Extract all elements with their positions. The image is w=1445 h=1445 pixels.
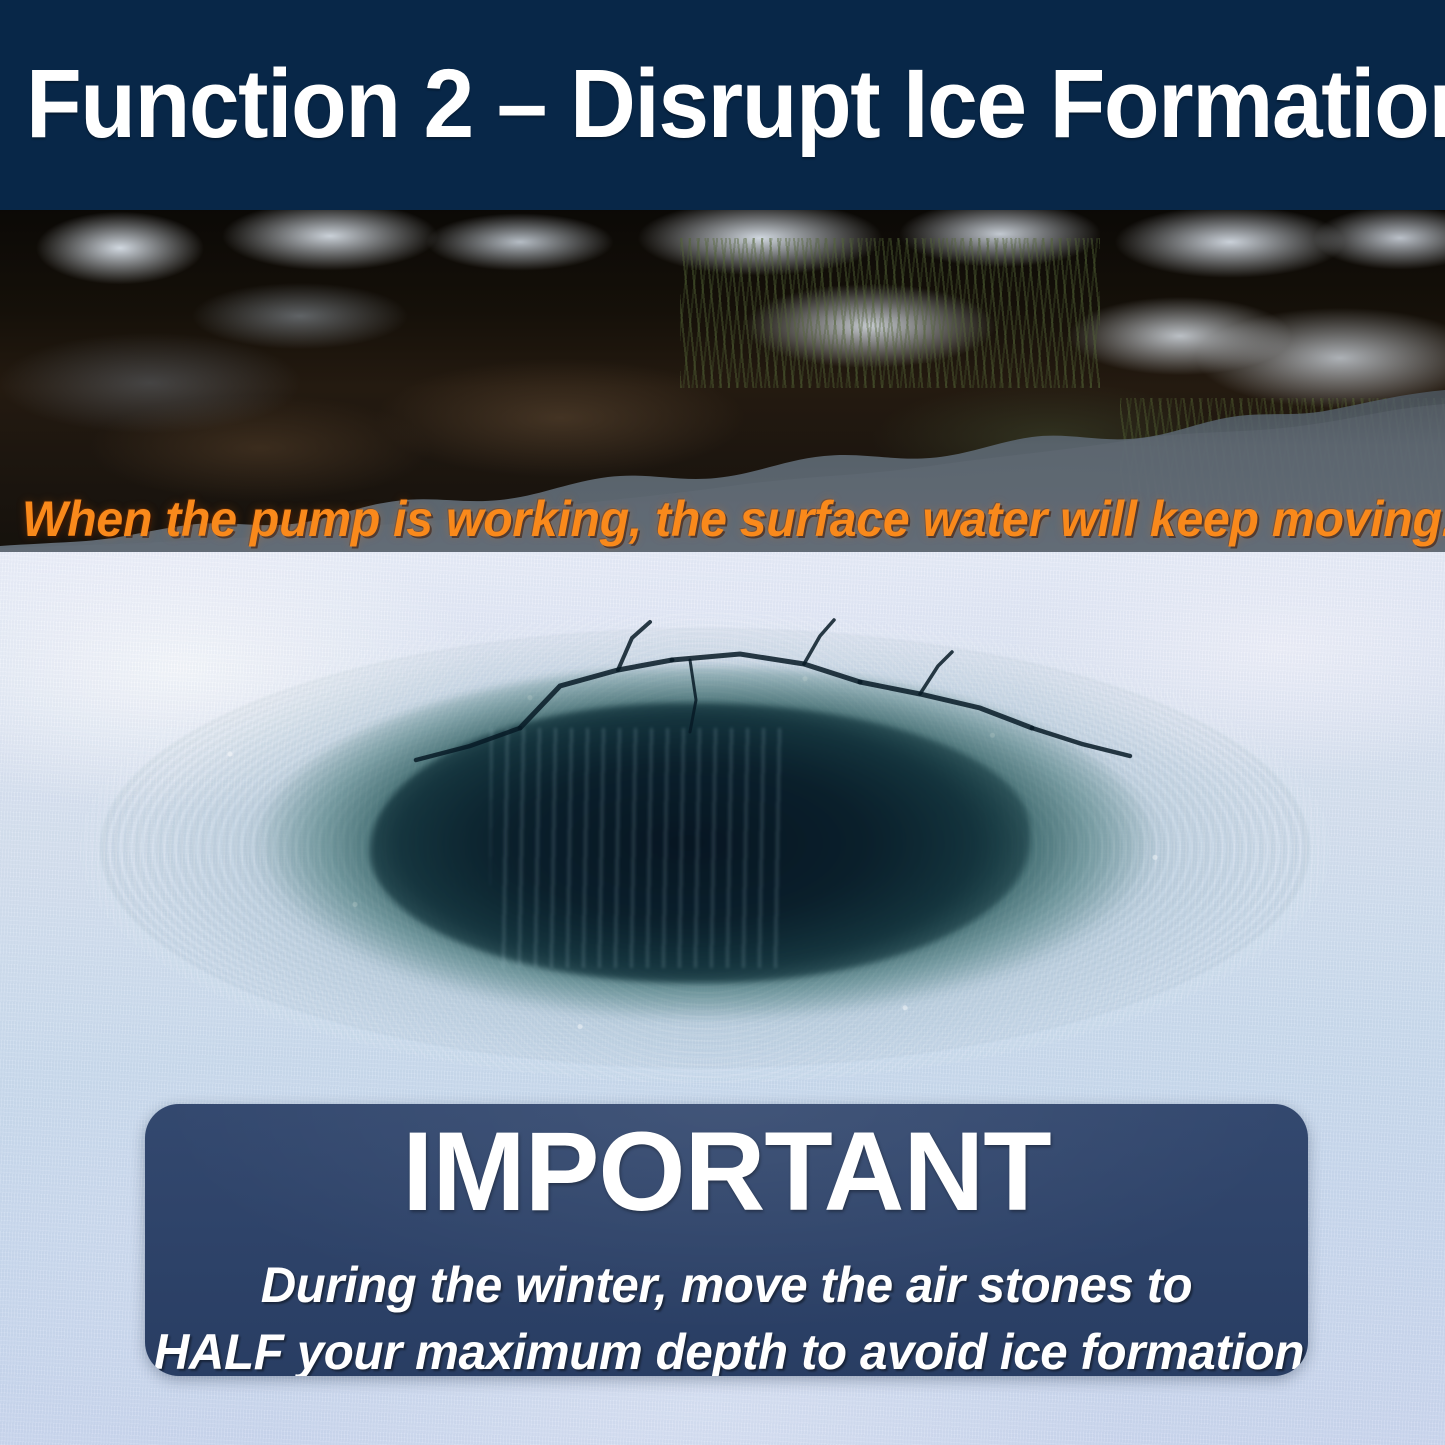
important-body-line-2: HALF your maximum depth to avoid ice for… xyxy=(154,1319,1300,1376)
important-callout-box: IMPORTANT During the winter, move the ai… xyxy=(145,1104,1308,1376)
important-body-line-1: During the winter, move the air stones t… xyxy=(157,1252,1297,1319)
ice-crack-lines xyxy=(220,608,1220,848)
description-line-1: When the pump is working, the surface wa… xyxy=(22,486,1383,552)
winter-scene-photo: When the pump is working, the surface wa… xyxy=(0,208,1445,552)
open-water-hole xyxy=(70,608,1340,1088)
header-banner: Function 2 – Disrupt Ice Formation xyxy=(0,0,1445,210)
important-body-text: During the winter, move the air stones t… xyxy=(145,1252,1308,1376)
product-infographic-poster: Function 2 – Disrupt Ice Formation xyxy=(0,0,1445,1445)
description-text: When the pump is working, the surface wa… xyxy=(22,486,1383,552)
important-heading: IMPORTANT xyxy=(145,1116,1308,1228)
page-title: Function 2 – Disrupt Ice Formation xyxy=(26,52,1342,156)
